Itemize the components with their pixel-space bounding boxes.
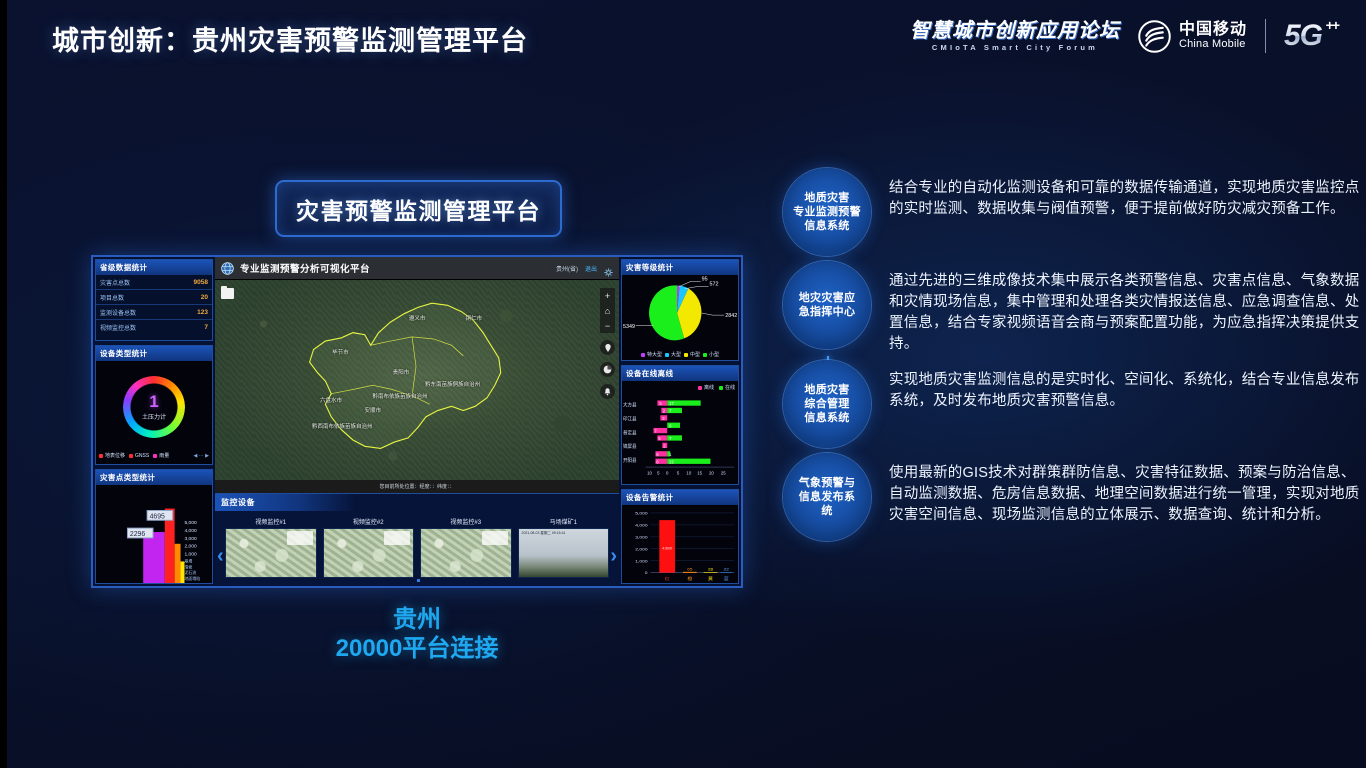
svg-text:4,000: 4,000 [635, 523, 648, 527]
feature-circle-label-3: 地质灾害 综合管理 信息系统 [798, 383, 855, 425]
map-label-qiandongnan: 黔东南苗族侗族自治州 [425, 380, 480, 388]
svg-text:5349: 5349 [623, 324, 635, 330]
svg-text:0: 0 [666, 470, 669, 475]
svg-text:10: 10 [647, 470, 652, 475]
svg-text:橙: 橙 [687, 575, 692, 581]
camera-name: 视频监控#3 [450, 517, 481, 526]
svg-text:2,000: 2,000 [184, 544, 197, 550]
svg-text:65: 65 [687, 567, 693, 571]
platform-title-pill: 灾害预警监测管理平台 [275, 180, 562, 237]
map-province-label: 贵州(省) [556, 264, 578, 273]
china-mobile-cn: 中国移动 [1179, 22, 1247, 39]
carousel-prev-button[interactable]: ‹ [217, 546, 224, 566]
legend-item: 离线 [698, 384, 714, 391]
map-header-right: 贵州(省) 退出 [556, 264, 613, 273]
table-row: 视频监控总数 7 [96, 320, 212, 335]
camera-timestamp: 2021-08-03 星期二 09:15:41 [522, 531, 566, 536]
camera-stamp [482, 531, 508, 545]
svg-text:5,000: 5,000 [635, 511, 648, 515]
forum-logo: 智慧城市创新应用论坛 CMIoTA Smart City Forum [910, 21, 1120, 52]
panel-device-type-body: 1 土压力计 地表位移 GNSS [96, 361, 212, 464]
device-online-legend: 离线 在线 [622, 381, 738, 393]
map-label-liupanshui: 六盘水市 [320, 396, 342, 404]
legend-swatch [703, 353, 707, 357]
caption-line-1: 贵州 [91, 605, 743, 634]
stat-label: 视频监控总数 [100, 323, 136, 332]
panel-hazard-level-title: 灾害等级统计 [622, 260, 738, 275]
home-icon[interactable]: ⌂ [600, 303, 615, 318]
legend-item: 在线 [719, 384, 735, 391]
fiveg-mark: 5G++ [1284, 19, 1338, 53]
legend-swatch [665, 353, 669, 357]
camera-name: 视频监控#1 [255, 517, 286, 526]
svg-text:10: 10 [686, 470, 691, 475]
feature-circle-4[interactable]: 气象预警与 信息发布系 统 [783, 453, 871, 541]
list-item[interactable]: 视频监控#3 [420, 517, 512, 578]
location-pin-icon[interactable] [600, 340, 615, 355]
legend-label: 小型 [709, 351, 719, 358]
table-row: 监测设备总数 123 [96, 305, 212, 320]
legend-pager[interactable]: ◀ ⋯ ▶ [194, 453, 209, 459]
panel-hazard-point-type-body: 4695 2296 5,000 4,000 3,000 2,000 1,000 [96, 485, 212, 583]
panel-hazard-point-type: 灾害点类型统计 4695 2296 [95, 469, 213, 584]
map-label-anshun: 安顺市 [364, 406, 381, 414]
svg-text:黄: 黄 [708, 575, 713, 581]
legend-item: 中型 [684, 351, 700, 358]
feature-circle-3[interactable]: 地质灾害 综合管理 信息系统 [783, 360, 871, 448]
brand-block: 智慧城市创新应用论坛 CMIoTA Smart City Forum 中国移动 … [910, 12, 1338, 60]
camera-stamp [287, 531, 313, 545]
legend-label: 雨量 [159, 452, 169, 459]
svg-text:开阳县: 开阳县 [623, 457, 637, 464]
feature-text-1: 结合专业的自动化监测设备和可靠的数据传输通道，实现地质灾害监控点的实时监测、数据… [871, 168, 1365, 220]
dashboard-screenshot: 省级数据统计 灾害点总数 9058 项目总数 20 监测设备总数 123 [91, 255, 743, 588]
stat-value: 9058 [194, 279, 208, 286]
feature-list: 地质灾害 专业监测预警 信息系统 结合专业的自动化监测设备和可靠的数据传输通道，… [765, 168, 1365, 546]
panel-province-stats-title: 省级数据统计 [96, 260, 212, 275]
legend-label: 地表位移 [105, 452, 125, 459]
camera-stamp [384, 531, 410, 545]
map-title: 专业监测预警分析可视化平台 [240, 261, 370, 275]
panel-device-type-title: 设备类型统计 [96, 346, 212, 361]
panel-monitor-devices: 监控设备 ‹ 视频监控#1 视频监控#2 [215, 493, 619, 586]
device-online-bar-chart: 大方县 印江县 普定县 锦屏县 开阳县 [622, 393, 738, 484]
svg-text:地面塌陷: 地面塌陷 [184, 576, 200, 581]
zoom-in-icon[interactable]: + [600, 288, 615, 303]
svg-text:15: 15 [697, 470, 702, 475]
dashboard-left-column: 省级数据统计 灾害点总数 9058 项目总数 20 监测设备总数 123 [93, 257, 215, 586]
svg-text:5,000: 5,000 [184, 520, 197, 526]
slide-header: 城市创新：贵州灾害预警监测管理平台 智慧城市创新应用论坛 CMIoTA Smar… [7, 0, 1366, 72]
feature-text-2: 通过先进的三维成像技术集中展示各类预警信息、灾害点信息、气象数据和灾情现场信息，… [871, 261, 1365, 355]
feature-text-3: 实现地质灾害监测信息的是实时化、空间化、系统化，结合专业信息发布系统，及时发布地… [871, 360, 1365, 412]
stat-value: 7 [204, 324, 208, 331]
china-mobile-en: China Mobile [1179, 39, 1247, 51]
stat-label: 灾害点总数 [100, 278, 130, 287]
panel-device-type: 设备类型统计 1 土压力计 地表位移 [95, 345, 213, 465]
legend-label: 大型 [671, 351, 681, 358]
caption-line-2: 20000平台连接 [91, 634, 743, 663]
svg-text:0: 0 [645, 571, 648, 575]
carousel-next-button[interactable]: › [610, 546, 617, 566]
legend-label: 离线 [704, 384, 714, 391]
legend-swatch [698, 386, 702, 390]
pie-layers-icon[interactable] [600, 362, 615, 377]
svg-text:1,000: 1,000 [635, 559, 648, 563]
list-item[interactable]: 视频监控#1 [225, 517, 317, 578]
table-row: 项目总数 20 [96, 290, 212, 305]
feature-circle-label-4: 气象预警与 信息发布系 统 [793, 476, 862, 518]
hazard-point-type-chart: 4695 2296 5,000 4,000 3,000 2,000 1,000 [96, 485, 212, 583]
camera-name: 马场煤矿1 [550, 517, 577, 526]
svg-text:锦屏县: 锦屏县 [623, 443, 637, 450]
feature-item-3: 地质灾害 综合管理 信息系统 实现地质灾害监测信息的是实时化、空间化、系统化，结… [765, 360, 1365, 448]
svg-text:4380: 4380 [662, 546, 673, 550]
camera-thumbnail[interactable] [420, 528, 512, 578]
china-mobile-swirl-icon [1138, 20, 1171, 53]
panel-device-alarm: 设备告警统计 5,000 4,000 3,000 2,000 1,000 0 [621, 489, 739, 584]
globe-icon [221, 262, 234, 275]
hazard-level-pie-chart: 95 572 2842 5349 [622, 275, 738, 351]
svg-text:泥石流: 泥石流 [184, 570, 196, 575]
gear-icon[interactable] [604, 264, 613, 273]
legend-swatch [129, 454, 133, 458]
legend-swatch [641, 353, 645, 357]
legend-swatch [99, 454, 103, 458]
svg-text:蓝: 蓝 [724, 575, 729, 580]
forum-logo-en: CMIoTA Smart City Forum [932, 44, 1098, 52]
legend-item: 地表位移 [99, 452, 125, 459]
svg-text:2,000: 2,000 [635, 547, 648, 551]
svg-text:5: 5 [657, 470, 660, 475]
legend-label: GNSS [135, 453, 149, 459]
page-title: 城市创新：贵州灾害预警监测管理平台 [52, 19, 528, 58]
map-toolbar[interactable]: + ⌂ − [600, 288, 615, 399]
dashboard-right-column: 灾害等级统计 [619, 257, 741, 586]
legend-swatch [684, 353, 688, 357]
fiveg-text: 5G [1284, 19, 1322, 52]
svg-text:普定县: 普定县 [623, 429, 637, 436]
svg-text:5: 5 [677, 470, 680, 475]
svg-text:28: 28 [708, 567, 714, 571]
province-boundary [215, 280, 619, 480]
map-label-tongren: 铜仁市 [465, 314, 482, 322]
device-alarm-bar-chart: 5,000 4,000 3,000 2,000 1,000 0 [622, 505, 738, 583]
legend-swatch [153, 454, 157, 458]
legend-label: 在线 [725, 384, 735, 391]
device-type-donut-chart: 1 土压力计 [96, 361, 212, 452]
donut-ring [123, 376, 185, 438]
slide-root: 城市创新：贵州灾害预警监测管理平台 智慧城市创新应用论坛 CMIoTA Smar… [0, 0, 1366, 768]
stat-label: 监测设备总数 [100, 308, 136, 317]
list-item[interactable]: 马场煤矿1 2021-08-03 星期二 09:15:41 [518, 517, 610, 578]
panel-province-stats: 省级数据统计 灾害点总数 9058 项目总数 20 监测设备总数 123 [95, 259, 213, 341]
monitor-carousel: ‹ 视频监控#1 视频监控#2 视频监控#3 [215, 511, 619, 586]
platform-title-label: 灾害预警监测管理平台 [296, 192, 541, 226]
legend-label: 特大型 [647, 351, 662, 358]
feature-circle-label-2: 地灾灾害应 急指挥中心 [793, 291, 862, 319]
legend-item: 小型 [703, 351, 719, 358]
panel-device-online: 设备在线离线 离线 在线 大方县 [621, 365, 739, 485]
svg-text:1: 1 [669, 452, 672, 457]
svg-text:22: 22 [724, 567, 730, 571]
panel-monitor-devices-title: 监控设备 [215, 494, 355, 511]
map-coordinate-bar: 您目前所处位置：经度：：纬度：： [215, 480, 619, 493]
feature-circle-2[interactable]: 地灾灾害应 急指挥中心 [783, 261, 871, 349]
dashboard-caption: 贵州 20000平台连接 [91, 605, 743, 664]
svg-text:1,000: 1,000 [184, 552, 197, 558]
feature-text-4: 使用最新的GIS技术对群策群防信息、灾害特征数据、预案与防治信息、自动监测数据、… [871, 453, 1365, 526]
legend-item: GNSS [129, 453, 149, 459]
feature-item-1: 地质灾害 专业监测预警 信息系统 结合专业的自动化监测设备和可靠的数据传输通道，… [765, 168, 1365, 256]
legend-label: 中型 [690, 351, 700, 358]
table-row: 灾害点总数 9058 [96, 275, 212, 290]
camera-name: 视频监控#2 [353, 517, 384, 526]
feature-circle-1[interactable]: 地质灾害 专业监测预警 信息系统 [783, 168, 871, 256]
svg-text:22: 22 [669, 459, 674, 464]
svg-text:印江县: 印江县 [623, 415, 637, 422]
hazard-level-legend: 特大型 大型 中型 小型 [622, 351, 738, 360]
map-label-qiannan: 黔南布依族苗族自治州 [373, 392, 428, 400]
stat-value: 123 [197, 309, 208, 316]
svg-text:17: 17 [669, 401, 674, 406]
forum-logo-cn: 智慧城市创新应用论坛 [910, 21, 1120, 41]
bell-icon[interactable] [600, 384, 615, 399]
svg-text:红: 红 [665, 575, 670, 580]
list-item[interactable]: 视频监控#2 [323, 517, 415, 578]
panel-hazard-point-type-title: 灾害点类型统计 [96, 470, 212, 485]
camera-thumbnail[interactable] [323, 528, 415, 578]
panel-device-online-body: 离线 在线 大方县 印江县 普定县 锦屏县 开阳县 [622, 381, 738, 484]
legend-swatch [719, 386, 723, 390]
svg-text:滑坡: 滑坡 [184, 564, 192, 569]
panel-hazard-level: 灾害等级统计 [621, 259, 739, 361]
panel-device-alarm-title: 设备告警统计 [622, 490, 738, 505]
zoom-out-icon[interactable]: − [600, 318, 615, 333]
carousel-indicator[interactable] [417, 579, 420, 582]
panel-hazard-level-body: 95 572 2842 5349 特大型 大型 [622, 275, 738, 360]
camera-thumbnail[interactable]: 2021-08-03 星期二 09:15:41 [518, 528, 610, 578]
svg-text:95: 95 [702, 276, 708, 282]
svg-text:4695: 4695 [150, 513, 165, 520]
legend-item: 特大型 [641, 351, 662, 358]
map-label-bijie: 毕节市 [332, 348, 349, 356]
map-exit-button[interactable]: 退出 [585, 264, 597, 273]
feature-item-4: 气象预警与 信息发布系 统 使用最新的GIS技术对群策群防信息、灾害特征数据、预… [765, 453, 1365, 541]
stat-value: 20 [201, 294, 208, 301]
svg-text:崩塌: 崩塌 [184, 558, 192, 563]
legend-item: 雨量 [153, 452, 169, 459]
map-header-bar: 专业监测预警分析可视化平台 贵州(省) 退出 [215, 257, 619, 280]
map-label-guiyang: 贵阳市 [393, 368, 410, 376]
svg-text:2842: 2842 [725, 313, 737, 319]
china-mobile-logo: 中国移动 China Mobile [1138, 20, 1247, 53]
device-type-legend: 地表位移 GNSS 雨量 ◀ ⋯ ▶ [96, 452, 212, 461]
stat-label: 项目总数 [100, 293, 124, 302]
svg-text:3,000: 3,000 [635, 535, 648, 539]
map-label-qianxinan: 黔西南布依族苗族自治州 [312, 422, 373, 430]
feature-circle-label-1: 地质灾害 专业监测预警 信息系统 [787, 191, 867, 233]
legend-item: 大型 [665, 351, 681, 358]
camera-thumbnail[interactable] [225, 528, 317, 578]
feature-item-2: 地灾灾害应 急指挥中心 通过先进的三维成像技术集中展示各类预警信息、灾害点信息、… [765, 261, 1365, 355]
svg-text:20: 20 [709, 470, 714, 475]
panel-province-stats-body: 灾害点总数 9058 项目总数 20 监测设备总数 123 视频监控总数 7 [96, 275, 212, 340]
dashboard-center-column: 专业监测预警分析可视化平台 贵州(省) 退出 [215, 257, 619, 586]
svg-text:4,000: 4,000 [184, 528, 197, 534]
svg-text:2296: 2296 [130, 531, 145, 538]
fiveg-plus: ++ [1326, 17, 1338, 33]
svg-text:572: 572 [709, 281, 718, 287]
map-canvas[interactable]: 遵义市 铜仁市 毕节市 贵阳市 黔东南苗族侗族自治州 六盘水市 黔南布依族苗族自… [215, 280, 619, 480]
folder-icon[interactable] [221, 288, 234, 299]
panel-device-online-title: 设备在线离线 [622, 366, 738, 381]
brand-divider [1265, 19, 1266, 53]
svg-text:3,000: 3,000 [184, 536, 197, 542]
svg-text:大方县: 大方县 [623, 402, 637, 409]
svg-text:25: 25 [721, 470, 726, 475]
map-label-zunyi: 遵义市 [409, 314, 426, 322]
panel-device-alarm-body: 5,000 4,000 3,000 2,000 1,000 0 [622, 505, 738, 583]
